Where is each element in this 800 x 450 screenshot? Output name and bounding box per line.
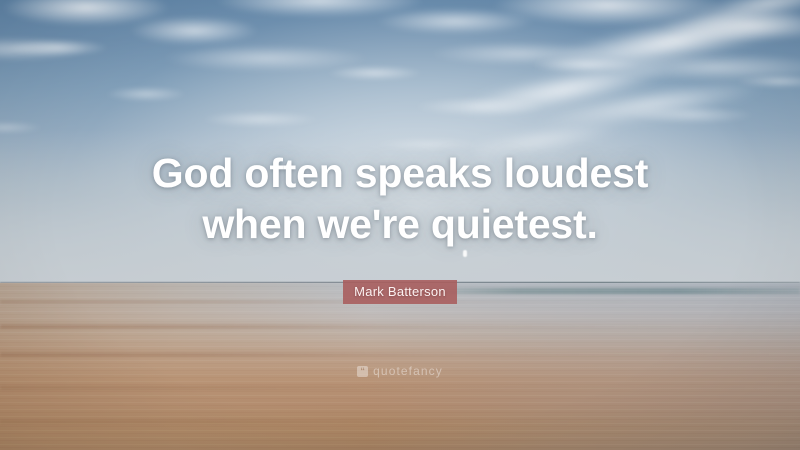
watermark-brand-label: quotefancy [373, 365, 443, 378]
quote-text: God often speaks loudest when we're quie… [0, 148, 800, 250]
author-badge-container: Mark Batterson [0, 280, 800, 304]
quote-line-1: God often speaks loudest [0, 148, 800, 199]
bright-speck [463, 250, 467, 257]
quote-line-2: when we're quietest. [0, 199, 800, 250]
author-name-badge[interactable]: Mark Batterson [343, 280, 457, 304]
quote-image-canvas: God often speaks loudest when we're quie… [0, 0, 800, 450]
watermark[interactable]: “ quotefancy [0, 365, 800, 378]
quotefancy-logo-icon: “ [357, 366, 368, 377]
